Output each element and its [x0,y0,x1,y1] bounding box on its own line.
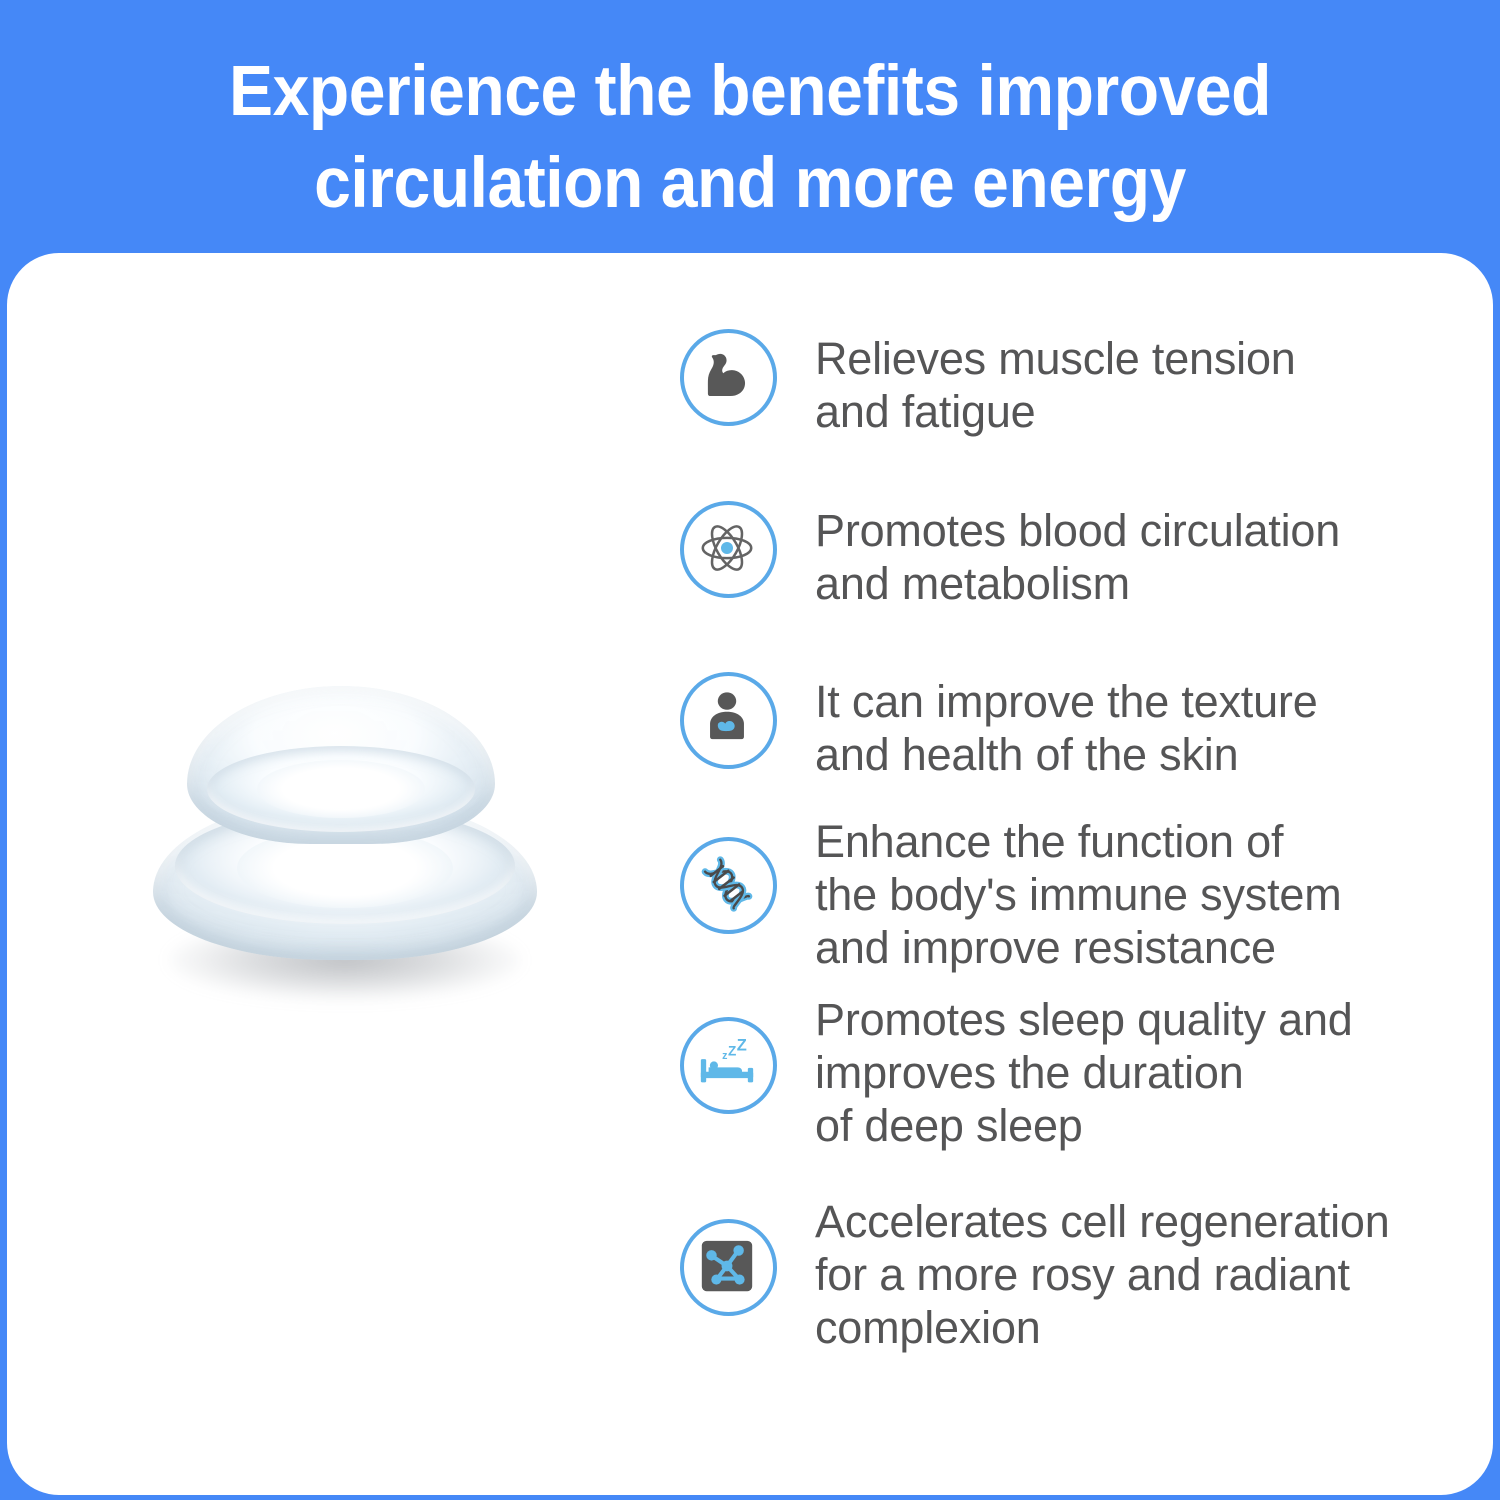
benefit-text: Accelerates cell regeneration for a more… [775,1193,1468,1354]
svg-text:Z: Z [736,1036,746,1054]
svg-text:Z: Z [727,1043,735,1058]
benefit-text: Promotes sleep quality and improves the … [775,991,1468,1152]
benefit-text: Enhance the function of the body's immun… [775,813,1468,974]
benefit-item: Accelerates cell regeneration for a more… [678,1217,1468,1354]
header-band: Experience the benefits improved circula… [0,0,1500,253]
benefit-icon-container [678,670,775,767]
product-image-panel [40,330,640,1230]
benefit-text: Relieves muscle tension and fatigue [775,327,1468,438]
dna-helix-icon [696,853,758,915]
bed-sleep-icon: z Z Z [696,1033,758,1095]
cupping-cup-icon [145,670,545,1000]
benefit-icon-container [678,1217,775,1314]
atom-icon [696,517,758,579]
benefit-icon-container: z Z Z [678,1015,775,1112]
benefit-icon-container [678,499,775,596]
benefit-item: Promotes blood circulation and metabolis… [678,499,1468,610]
flexed-bicep-icon [696,345,758,407]
benefit-item: It can improve the texture and health of… [678,670,1468,781]
person-skin-health-icon [696,688,758,750]
cup-upper-inner-well [257,760,425,818]
infographic-page: Experience the benefits improved circula… [0,0,1500,1500]
page-title: Experience the benefits improved circula… [53,46,1448,230]
benefit-text: It can improve the texture and health of… [775,670,1468,781]
benefit-item: Enhance the function of the body's immun… [678,835,1468,974]
benefit-icon-container [678,327,775,424]
benefit-item: z Z Z Promotes sleep quality and improve… [678,1015,1468,1152]
benefit-icon-container [678,835,775,932]
svg-text:z: z [722,1050,727,1062]
benefit-text: Promotes blood circulation and metabolis… [775,499,1468,610]
benefit-item: Relieves muscle tension and fatigue [678,327,1468,438]
molecule-cell-icon [696,1235,758,1297]
